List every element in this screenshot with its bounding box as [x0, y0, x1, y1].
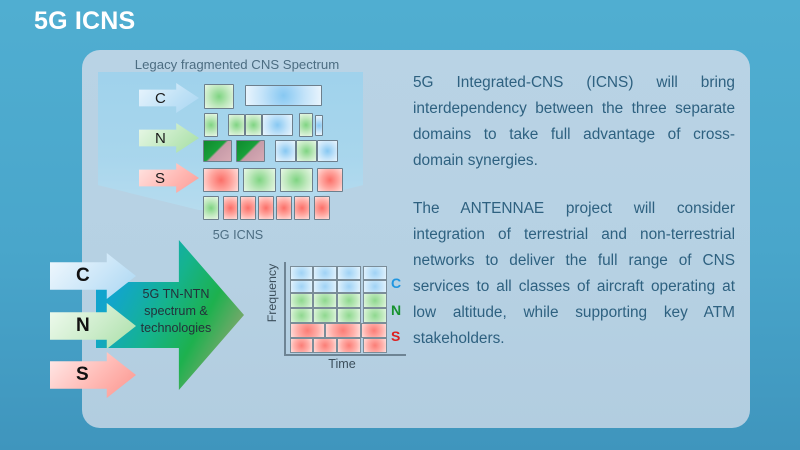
paragraph-1: 5G Integrated-CNS (ICNS) will bring inte…	[413, 70, 735, 174]
chart-cell	[337, 266, 361, 280]
icns-arrow-n-label: N	[76, 315, 90, 337]
spectrum-block	[317, 140, 338, 162]
time-frequency-chart: Frequency Time C N S	[262, 262, 402, 380]
chart-y-axis	[284, 262, 286, 354]
icns-diagram-caption: 5G ICNS	[178, 228, 298, 242]
chart-cell	[313, 280, 337, 293]
chart-cell	[363, 293, 387, 308]
chart-cell	[363, 280, 387, 293]
chart-cell	[290, 293, 313, 308]
icns-arrow-c-label: C	[76, 265, 90, 287]
spectrum-block	[203, 196, 219, 220]
chart-cell	[290, 266, 313, 280]
chart-cell	[337, 338, 361, 353]
spectrum-block	[262, 114, 293, 136]
chart-cell	[363, 308, 387, 323]
icns-arrow-s-label: S	[76, 364, 89, 386]
spectrum-block	[314, 196, 330, 220]
spectrum-block	[258, 196, 274, 220]
spectrum-block	[240, 196, 256, 220]
page-title: 5G ICNS	[34, 7, 135, 36]
chart-cell	[361, 323, 387, 338]
chart-cell	[290, 338, 313, 353]
chart-cell	[363, 266, 387, 280]
chart-legend-n: N	[391, 302, 401, 318]
chart-cell	[363, 338, 387, 353]
chart-cell	[337, 293, 361, 308]
chart-y-axis-label: Frequency	[265, 256, 279, 330]
chart-cell	[290, 308, 313, 323]
legacy-arrow-n-label: N	[155, 130, 166, 147]
legacy-arrow-s-label: S	[155, 170, 165, 187]
spectrum-block	[228, 114, 245, 136]
chart-cell	[290, 323, 325, 338]
chart-legend-s: S	[391, 328, 400, 344]
spectrum-block	[317, 168, 343, 192]
spectrum-block	[294, 196, 310, 220]
chart-x-axis	[284, 354, 406, 356]
spectrum-block	[276, 196, 292, 220]
convergence-arrow-label: 5G TN-NTN spectrum & technologies	[124, 286, 228, 337]
legacy-arrow-c-label: C	[155, 90, 166, 107]
spectrum-block	[275, 140, 296, 162]
spectrum-block	[203, 140, 232, 162]
chart-cell	[337, 308, 361, 323]
spectrum-block	[204, 113, 218, 137]
spectrum-block	[245, 85, 322, 106]
paragraph-2: The ANTENNAE project will consider integ…	[413, 196, 735, 352]
body-copy: 5G Integrated-CNS (ICNS) will bring inte…	[413, 70, 735, 352]
chart-cell	[313, 308, 337, 323]
chart-cell	[313, 338, 337, 353]
spectrum-block	[223, 196, 238, 220]
chart-cell	[313, 266, 337, 280]
chart-cell	[290, 280, 313, 293]
spectrum-block	[243, 168, 276, 192]
spectrum-block	[280, 168, 313, 192]
chart-cell	[313, 293, 337, 308]
chart-cell	[325, 323, 361, 338]
spectrum-block	[245, 114, 262, 136]
chart-cell	[337, 280, 361, 293]
spectrum-block	[204, 84, 234, 109]
spectrum-block	[203, 168, 239, 192]
spectrum-block	[299, 113, 313, 137]
spectrum-block	[236, 140, 265, 162]
slide-background: 5G ICNS Legacy fragmented CNS Spectrum C…	[0, 0, 800, 450]
chart-x-axis-label: Time	[292, 357, 392, 371]
chart-legend-c: C	[391, 275, 401, 291]
spectrum-block	[296, 140, 317, 162]
spectrum-block	[315, 115, 323, 136]
legacy-diagram-caption: Legacy fragmented CNS Spectrum	[122, 57, 352, 72]
